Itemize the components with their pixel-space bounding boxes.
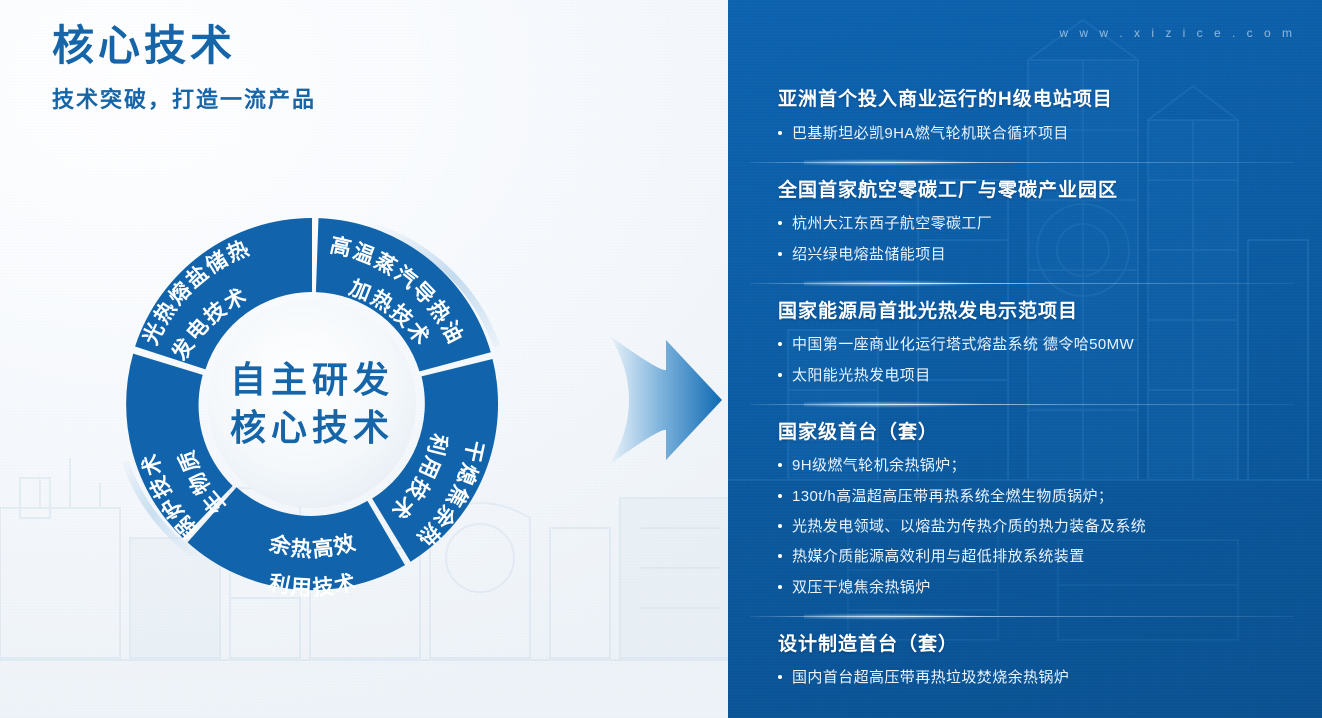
list-item: 9H级燃气轮机余热锅炉； — [778, 451, 1296, 481]
achievement-section-1: 亚洲首个投入商业运行的H级电站项目 巴基斯坦必凯9HA燃气轮机联合循环项目 — [728, 86, 1322, 149]
core-technology-wheel: 光热熔盐储热 发电技术 高温蒸汽导热油 加热技术 干熄焦余热 利用技术 — [78, 178, 546, 630]
list-item: 巴基斯坦必凯9HA燃气轮机联合循环项目 — [778, 119, 1296, 149]
achievement-section-5: 设计制造首台（套） 国内首台超高压带再热垃圾焚烧余热锅炉 — [728, 631, 1322, 694]
title-block: 核心技术 技术突破，打造一流产品 — [52, 22, 316, 114]
site-watermark: w w w . x i z i c e . c o m — [1059, 26, 1296, 40]
page-title: 核心技术 — [52, 22, 316, 70]
list-item: 绍兴绿电熔盐储能项目 — [778, 240, 1296, 270]
section-2-title: 全国首家航空零碳工厂与零碳产业园区 — [778, 177, 1296, 206]
wheel-core — [208, 300, 416, 508]
section-divider — [750, 616, 1294, 617]
wheel-svg: 光热熔盐储热 发电技术 高温蒸汽导热油 加热技术 干熄焦余热 利用技术 — [78, 178, 546, 630]
section-divider — [750, 283, 1294, 284]
section-4-bullets: 9H级燃气轮机余热锅炉； 130t/h高温超高压带再热系统全燃生物质锅炉； 光热… — [778, 451, 1296, 602]
list-item: 130t/h高温超高压带再热系统全燃生物质锅炉； — [778, 482, 1296, 512]
list-item: 双压干熄焦余热锅炉 — [778, 573, 1296, 603]
section-divider — [750, 404, 1294, 405]
achievements-list: 亚洲首个投入商业运行的H级电站项目 巴基斯坦必凯9HA燃气轮机联合循环项目 全国… — [728, 86, 1322, 694]
list-item: 热媒介质能源高效利用与超低排放系统装置 — [778, 542, 1296, 572]
section-3-title: 国家能源局首批光热发电示范项目 — [778, 298, 1296, 327]
page-subtitle: 技术突破，打造一流产品 — [52, 82, 316, 114]
list-item: 国内首台超高压带再热垃圾焚烧余热锅炉 — [778, 663, 1296, 693]
section-1-title: 亚洲首个投入商业运行的H级电站项目 — [778, 86, 1296, 115]
slide-canvas: 核心技术 技术突破，打造一流产品 — [0, 0, 1322, 718]
section-4-title: 国家级首台（套） — [778, 419, 1296, 448]
achievement-section-2: 全国首家航空零碳工厂与零碳产业园区 杭州大江东西子航空零碳工厂 绍兴绿电熔盐储能… — [728, 177, 1322, 270]
left-panel: 核心技术 技术突破，打造一流产品 — [0, 0, 728, 718]
section-1-bullets: 巴基斯坦必凯9HA燃气轮机联合循环项目 — [778, 119, 1296, 149]
achievement-section-3: 国家能源局首批光热发电示范项目 中国第一座商业化运行塔式熔盐系统 德令哈50MW… — [728, 298, 1322, 391]
list-item: 中国第一座商业化运行塔式熔盐系统 德令哈50MW — [778, 330, 1296, 360]
achievement-section-4: 国家级首台（套） 9H级燃气轮机余热锅炉； 130t/h高温超高压带再热系统全燃… — [728, 419, 1322, 603]
section-divider — [750, 162, 1294, 163]
section-5-bullets: 国内首台超高压带再热垃圾焚烧余热锅炉 — [778, 663, 1296, 693]
list-item: 太阳能光热发电项目 — [778, 361, 1296, 391]
section-2-bullets: 杭州大江东西子航空零碳工厂 绍兴绿电熔盐储能项目 — [778, 209, 1296, 270]
list-item: 杭州大江东西子航空零碳工厂 — [778, 209, 1296, 239]
right-panel: w w w . x i z i c e . c o m 亚洲首个投入商业运行的H… — [728, 0, 1322, 718]
section-5-title: 设计制造首台（套） — [778, 631, 1296, 660]
list-item: 光热发电领域、以熔盐为传热介质的热力装备及系统 — [778, 512, 1296, 542]
right-arrow-icon — [608, 330, 724, 470]
section-3-bullets: 中国第一座商业化运行塔式熔盐系统 德令哈50MW 太阳能光热发电项目 — [778, 330, 1296, 391]
